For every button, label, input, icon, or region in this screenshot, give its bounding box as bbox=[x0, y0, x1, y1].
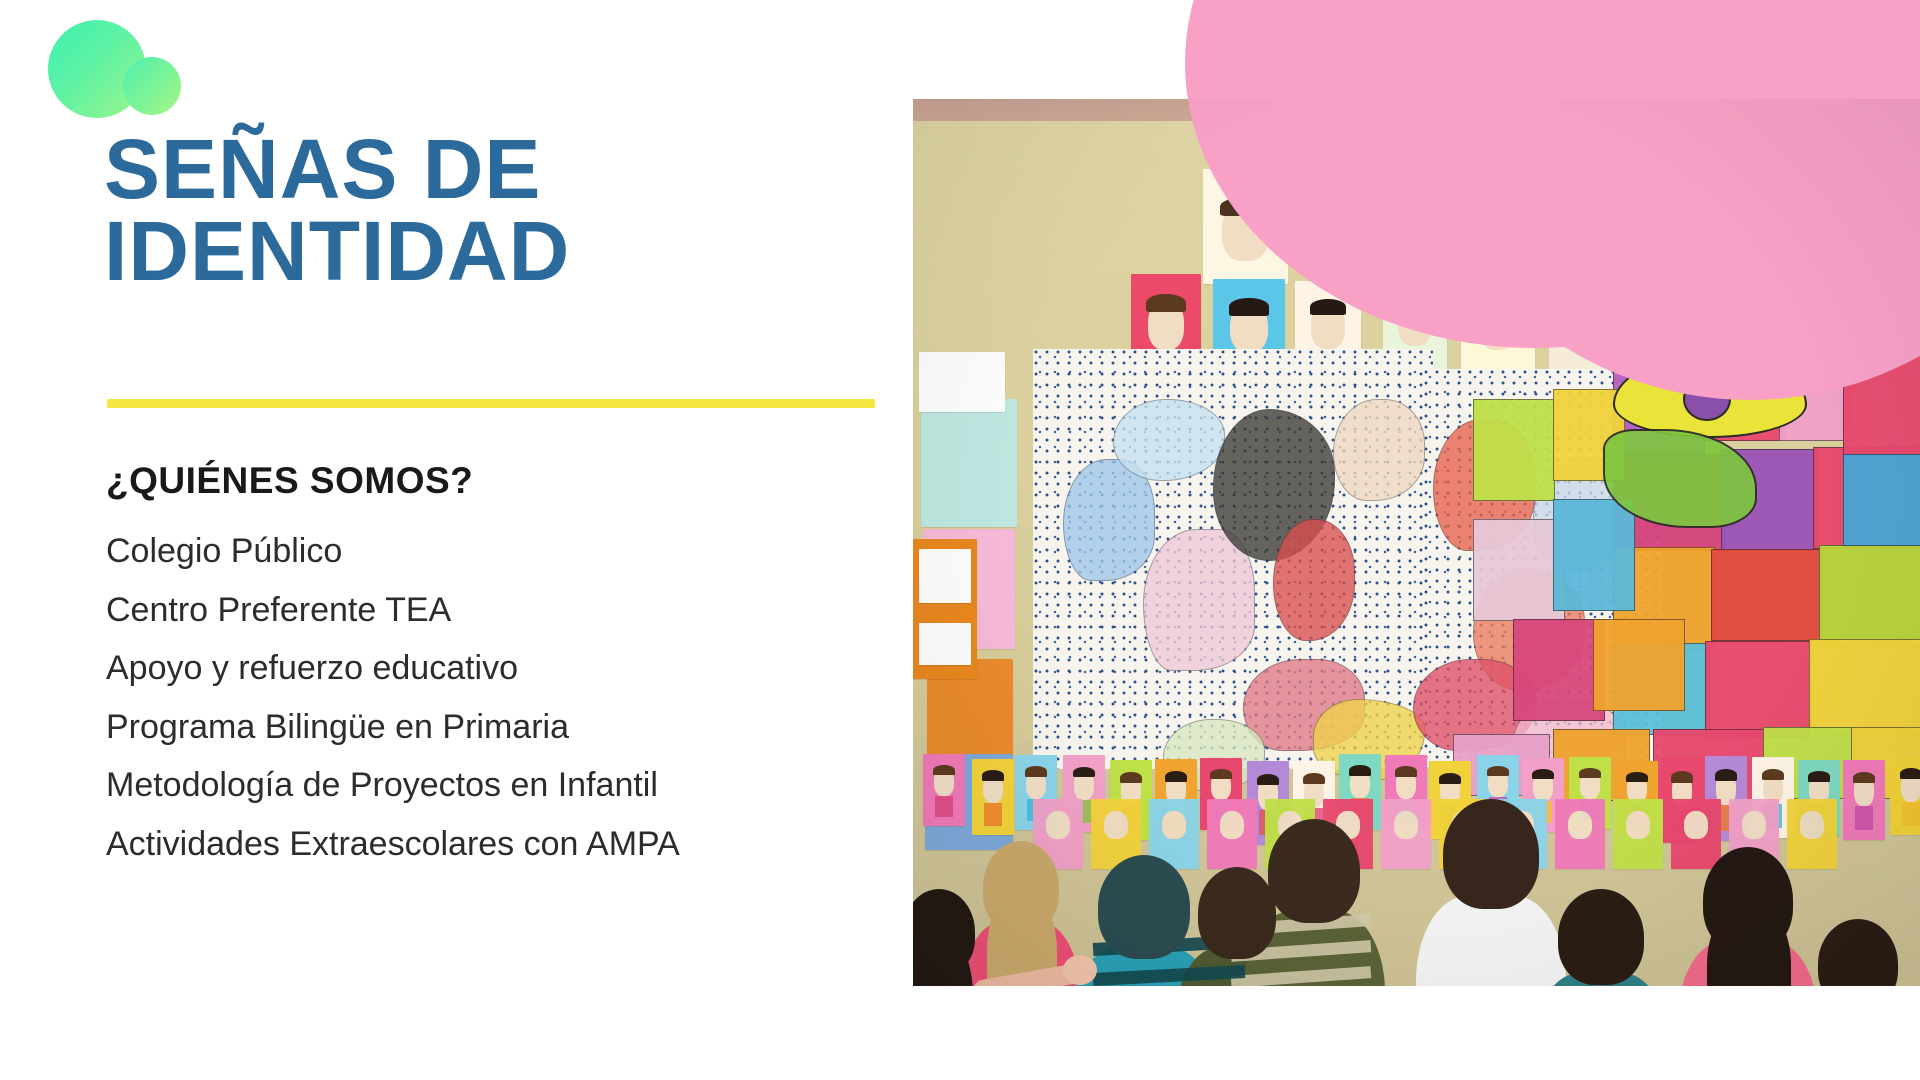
drawn-hair bbox=[1900, 768, 1920, 779]
drawn-hair bbox=[1395, 766, 1417, 777]
mural-color-patch bbox=[1843, 454, 1920, 546]
drawn-hair bbox=[1303, 773, 1325, 784]
child-head bbox=[1558, 889, 1644, 985]
drawn-hair bbox=[1626, 772, 1648, 782]
drawn-face bbox=[1104, 811, 1128, 839]
list-item: Apoyo y refuerzo educativo bbox=[106, 651, 896, 685]
drawn-hair bbox=[1487, 766, 1509, 776]
drawn-body bbox=[984, 803, 1002, 826]
slide-canvas: SEÑAS DE IDENTIDAD ¿QUIÉNES SOMOS? Coleg… bbox=[0, 0, 1920, 1080]
mural-color-patch bbox=[1513, 619, 1605, 721]
kid-drawing-card bbox=[1613, 799, 1663, 869]
drawn-hair bbox=[1210, 769, 1232, 779]
kid-drawing-card bbox=[1381, 799, 1431, 869]
mural-ink-blob bbox=[1333, 399, 1425, 501]
child-head bbox=[1198, 867, 1276, 959]
list-item: Metodología de Proyectos en Infantil bbox=[106, 768, 896, 802]
drawn-hair bbox=[982, 770, 1004, 781]
yellow-divider bbox=[107, 399, 875, 408]
kid-drawing-card bbox=[1787, 799, 1837, 869]
mural-color-patch bbox=[1593, 619, 1685, 711]
mural-color-patch bbox=[1553, 499, 1635, 611]
page-title: SEÑAS DE IDENTIDAD bbox=[104, 128, 884, 293]
kid-drawing-card bbox=[923, 754, 965, 826]
list-item: Centro Preferente TEA bbox=[106, 593, 896, 627]
drawn-hair bbox=[1146, 294, 1185, 312]
list-item: Programa Bilingüe en Primaria bbox=[106, 710, 896, 744]
bulletin-note bbox=[919, 623, 971, 665]
drawn-hair bbox=[1229, 298, 1269, 315]
child-hand bbox=[1063, 955, 1097, 985]
kid-drawing-card bbox=[1671, 799, 1721, 869]
mural-color-patch bbox=[1809, 639, 1920, 736]
drawn-face bbox=[1220, 811, 1244, 839]
child-head bbox=[1268, 819, 1360, 923]
drawn-hair bbox=[1349, 765, 1371, 776]
drawn-hair bbox=[1853, 772, 1875, 783]
drawn-hair bbox=[1025, 766, 1047, 777]
mural-color-patch bbox=[1473, 399, 1555, 501]
drawn-face bbox=[1394, 811, 1418, 839]
mural-color-patch bbox=[1473, 519, 1565, 621]
drawn-hair bbox=[1310, 299, 1347, 315]
drawn-hair bbox=[1808, 771, 1830, 782]
mural-color-patch bbox=[1819, 545, 1920, 647]
drawn-face bbox=[1684, 811, 1708, 839]
text-column: SEÑAS DE IDENTIDAD ¿QUIÉNES SOMOS? Coleg… bbox=[0, 0, 915, 1080]
kid-drawing-card bbox=[972, 759, 1014, 835]
drawn-hair bbox=[1120, 772, 1142, 783]
drawn-body bbox=[1902, 802, 1920, 826]
child-head bbox=[1098, 855, 1190, 959]
drawn-hair bbox=[1671, 771, 1693, 783]
drawn-face bbox=[1046, 811, 1070, 839]
drawn-hair bbox=[1762, 769, 1784, 780]
drawn-hair bbox=[1579, 768, 1601, 778]
kid-drawing-card bbox=[1555, 799, 1605, 869]
drawn-body bbox=[935, 796, 953, 818]
drawn-hair bbox=[1532, 769, 1554, 779]
mural-ink-blob bbox=[1273, 519, 1355, 641]
mural-color-patch bbox=[1711, 549, 1823, 641]
drawn-hair bbox=[1439, 773, 1461, 784]
drawn-face bbox=[1626, 811, 1650, 839]
bulletin-note bbox=[919, 549, 971, 603]
list-item: Actividades Extraescolares con AMPA bbox=[106, 827, 896, 861]
mural-color-patch bbox=[1705, 641, 1812, 738]
drawn-face bbox=[1742, 811, 1766, 839]
side-painting-card bbox=[921, 399, 1017, 527]
list-item: Colegio Público bbox=[106, 534, 896, 568]
drawn-body bbox=[1855, 806, 1873, 830]
drawn-hair bbox=[933, 765, 955, 775]
drawn-face bbox=[1568, 811, 1592, 839]
drawn-hair bbox=[1257, 774, 1279, 786]
kid-drawing-card bbox=[1207, 799, 1257, 869]
child-head bbox=[983, 841, 1059, 933]
child-head bbox=[1703, 847, 1793, 953]
drawn-face bbox=[1162, 811, 1186, 839]
kid-drawing-card bbox=[1843, 760, 1885, 840]
drawn-face bbox=[1800, 811, 1824, 839]
identity-list: Colegio Público Centro Preferente TEA Ap… bbox=[106, 534, 896, 885]
section-subheading: ¿QUIÉNES SOMOS? bbox=[106, 460, 473, 502]
mural-ink-blob bbox=[1143, 529, 1255, 671]
drawn-hair bbox=[1165, 771, 1187, 782]
kid-drawing-card bbox=[1890, 756, 1920, 835]
side-painting-card bbox=[919, 352, 1005, 412]
child-head bbox=[1443, 799, 1539, 909]
drawn-hair bbox=[1715, 769, 1737, 781]
drawn-hair bbox=[1073, 767, 1095, 778]
